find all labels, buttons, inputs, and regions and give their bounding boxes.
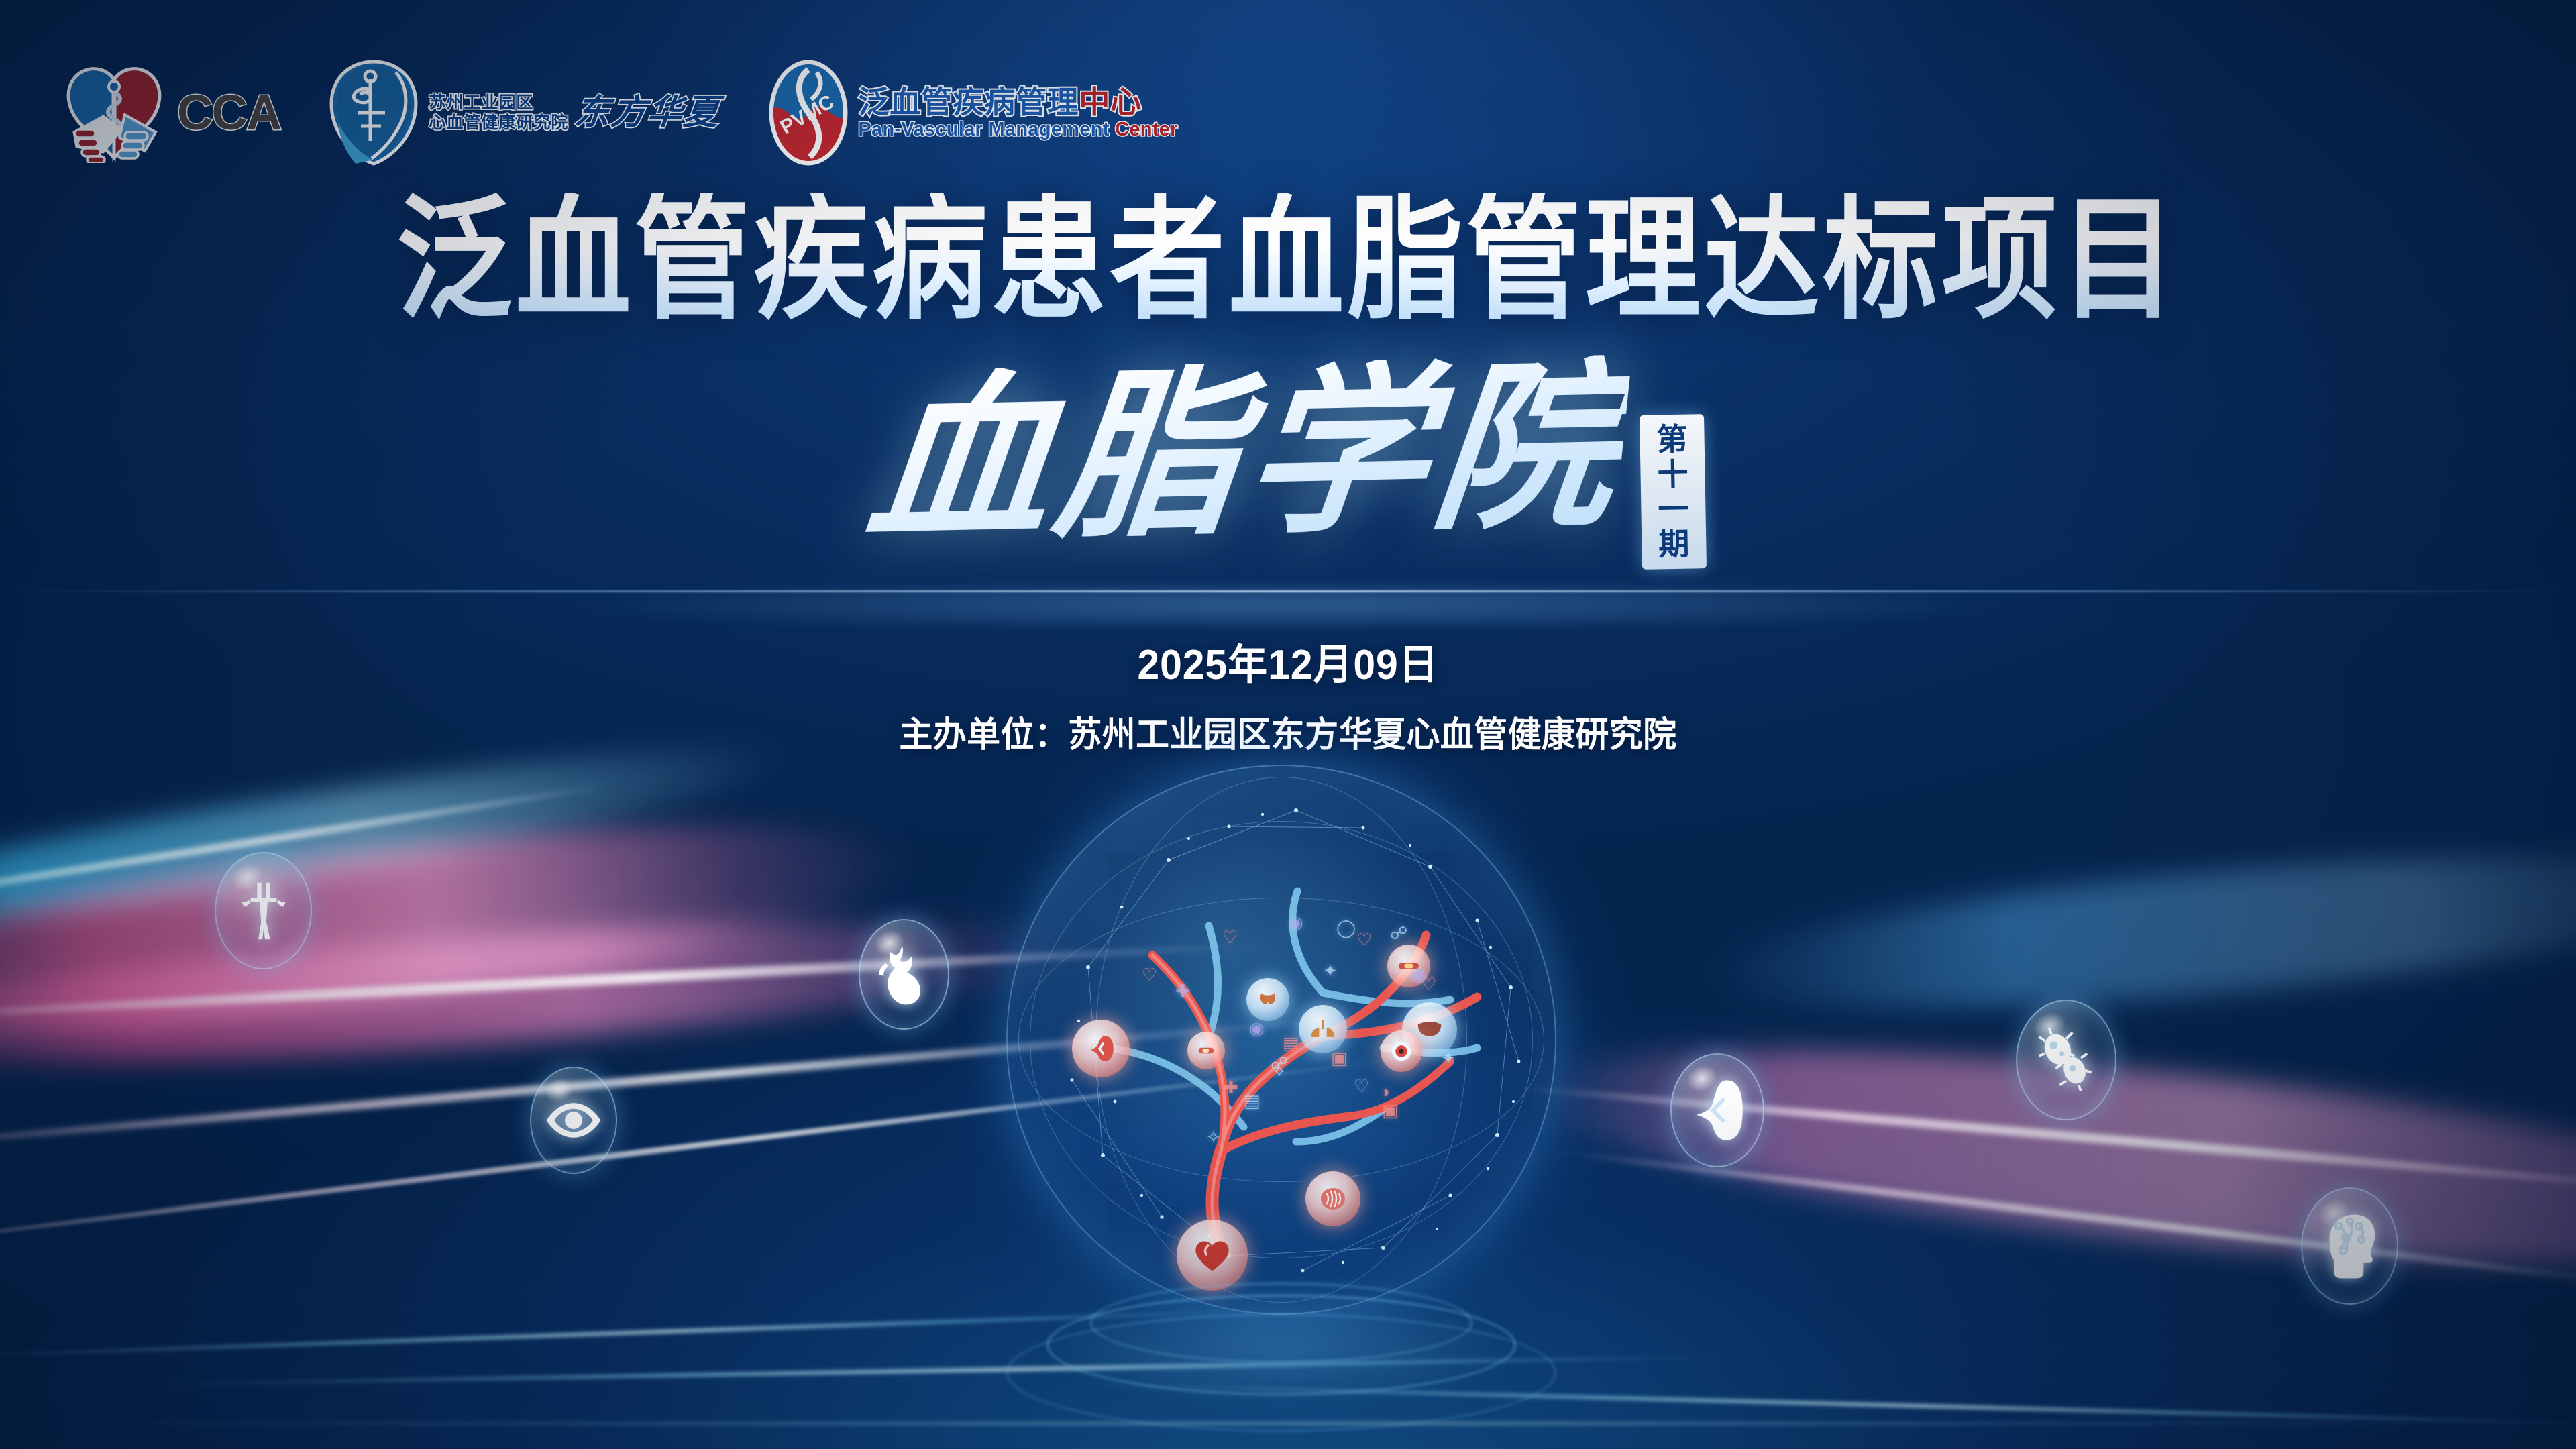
poster-canvas: CCA 苏州工业园区 心血管健康研究院 bbox=[0, 0, 2576, 1449]
stamp-char-4: 期 bbox=[1658, 529, 1690, 560]
pvmc-cn-part2: 中心 bbox=[1079, 85, 1142, 119]
brain-head-bubble bbox=[2301, 1187, 2398, 1305]
eye-node-icon bbox=[1389, 1038, 1414, 1064]
dfhx-text-block: 苏州工业园区 心血管健康研究院 东方华夏 bbox=[429, 94, 720, 131]
vascular-tree-sphere: ♡ ♡ ◉ ◉ ✦ ◯ ♡ ☍ ♡ ◉ ▤ ▣ ☍ ✦ ♡ ◑ ✚ ▤ ▣ ✧ … bbox=[1006, 765, 1556, 1315]
microbe-icon bbox=[2035, 1028, 2098, 1091]
micro-icon-11: ▤ bbox=[1283, 1033, 1299, 1054]
micro-icon-2: ♡ bbox=[1222, 927, 1238, 948]
micro-icon-14: ✦ bbox=[1441, 1048, 1456, 1069]
pvmc-en-line: Pan-Vascular Management Center bbox=[858, 119, 1177, 140]
micro-icon-4: ◉ bbox=[1288, 912, 1303, 933]
artery-node-icon bbox=[1195, 1039, 1218, 1062]
logo-bar: CCA 苏州工业园区 心血管健康研究院 bbox=[60, 59, 1178, 166]
node-artery-segment bbox=[1187, 1032, 1225, 1069]
sphere-ripple-3 bbox=[1090, 1283, 1472, 1363]
dongfang-huaxia-shield-logo bbox=[329, 59, 419, 166]
node-thyroid bbox=[1246, 978, 1289, 1021]
calligraphy-block: 血脂学院 第 十 一 期 bbox=[0, 362, 2576, 569]
logo-dongfang-huaxia: 苏州工业园区 心血管健康研究院 东方华夏 bbox=[329, 59, 720, 166]
kidney-icon bbox=[1689, 1078, 1746, 1142]
cca-wordmark: CCA bbox=[177, 88, 280, 138]
logo-cca: CCA bbox=[60, 62, 280, 163]
micro-icon-12: ▣ bbox=[1331, 1048, 1348, 1069]
stamp-char-1: 第 bbox=[1656, 424, 1688, 455]
micro-icon-1: ♡ bbox=[1142, 965, 1157, 985]
aorta-bubble bbox=[215, 852, 312, 969]
pvmc-text-block: 泛血管疾病管理中心 Pan-Vascular Management Center bbox=[858, 86, 1177, 140]
micro-icon-10: ◉ bbox=[1411, 965, 1427, 985]
node-kidney bbox=[1072, 1020, 1130, 1077]
node-eye bbox=[1381, 1030, 1422, 1072]
event-date: 2025年12月09日 bbox=[64, 631, 2512, 691]
brain-node-icon bbox=[1317, 1183, 1349, 1215]
micro-icon-6: ◯ bbox=[1336, 918, 1356, 938]
kidney-bubble bbox=[1670, 1053, 1764, 1167]
node-lung bbox=[1299, 1005, 1347, 1053]
stamp-char-2: 十 bbox=[1657, 459, 1688, 490]
micro-icon-22: ✚ bbox=[1175, 981, 1190, 1002]
micro-icon-17: ✚ bbox=[1224, 1077, 1238, 1098]
lung-node-icon bbox=[1309, 1015, 1337, 1043]
micro-icon-5: ✦ bbox=[1323, 961, 1338, 981]
pvmc-en-part1: Pan-Vascular Management bbox=[858, 119, 1115, 140]
logo-pvmc: PVMC 泛血管疾病管理中心 Pan-Vascular Management C… bbox=[768, 59, 1177, 166]
microbe-bubble bbox=[2016, 1000, 2116, 1120]
node-brain bbox=[1305, 1171, 1360, 1226]
pvmc-cn-part1: 泛血管疾病管理 bbox=[858, 85, 1079, 119]
micro-icon-18: ▤ bbox=[1244, 1091, 1260, 1112]
aorta-icon bbox=[237, 877, 290, 945]
micro-icon-16: ◑ bbox=[1379, 1081, 1390, 1102]
pvmc-oval-logo: PVMC bbox=[768, 59, 849, 166]
micro-icon-21: ✧ bbox=[1272, 1061, 1287, 1082]
horizon-line bbox=[0, 590, 2576, 592]
dfhx-line1: 苏州工业园区 bbox=[429, 94, 568, 111]
edition-stamp: 第 十 一 期 bbox=[1640, 414, 1707, 570]
dfhx-line2: 心血管健康研究院 bbox=[429, 114, 568, 131]
kidney-node-icon bbox=[1084, 1032, 1118, 1065]
pvmc-cn-line: 泛血管疾病管理中心 bbox=[858, 86, 1177, 118]
pvmc-en-part2: Center bbox=[1115, 119, 1178, 140]
calligraphy-title: 血脂学院 bbox=[861, 354, 1632, 551]
micro-icon-7: ♡ bbox=[1356, 930, 1372, 951]
micro-icon-20: ✧ bbox=[1206, 1127, 1221, 1148]
heart-bubble bbox=[859, 919, 949, 1030]
heart-node-icon bbox=[1191, 1234, 1233, 1276]
heart-icon bbox=[877, 943, 932, 1007]
eye-bubble bbox=[530, 1067, 617, 1174]
dfhx-brush-name: 东方华夏 bbox=[574, 95, 722, 130]
eye-icon bbox=[545, 1098, 602, 1142]
cca-heart-handshake-logo bbox=[60, 62, 168, 163]
stamp-char-3: 一 bbox=[1658, 494, 1689, 525]
thyroid-node-icon bbox=[1255, 987, 1281, 1012]
brain-head-icon bbox=[2320, 1212, 2379, 1281]
micro-icon-15: ♡ bbox=[1354, 1076, 1369, 1097]
micro-icon-3: ◉ bbox=[1249, 1018, 1265, 1039]
main-title: 泛血管疾病患者血脂管理达标项目 bbox=[180, 193, 2396, 327]
micro-icon-8: ☍ bbox=[1390, 923, 1407, 944]
micro-icon-19: ▣ bbox=[1382, 1100, 1399, 1121]
sphere-shell: ♡ ♡ ◉ ◉ ✦ ◯ ♡ ☍ ♡ ◉ ▤ ▣ ☍ ✦ ♡ ◑ ✚ ▤ ▣ ✧ … bbox=[1006, 765, 1556, 1315]
